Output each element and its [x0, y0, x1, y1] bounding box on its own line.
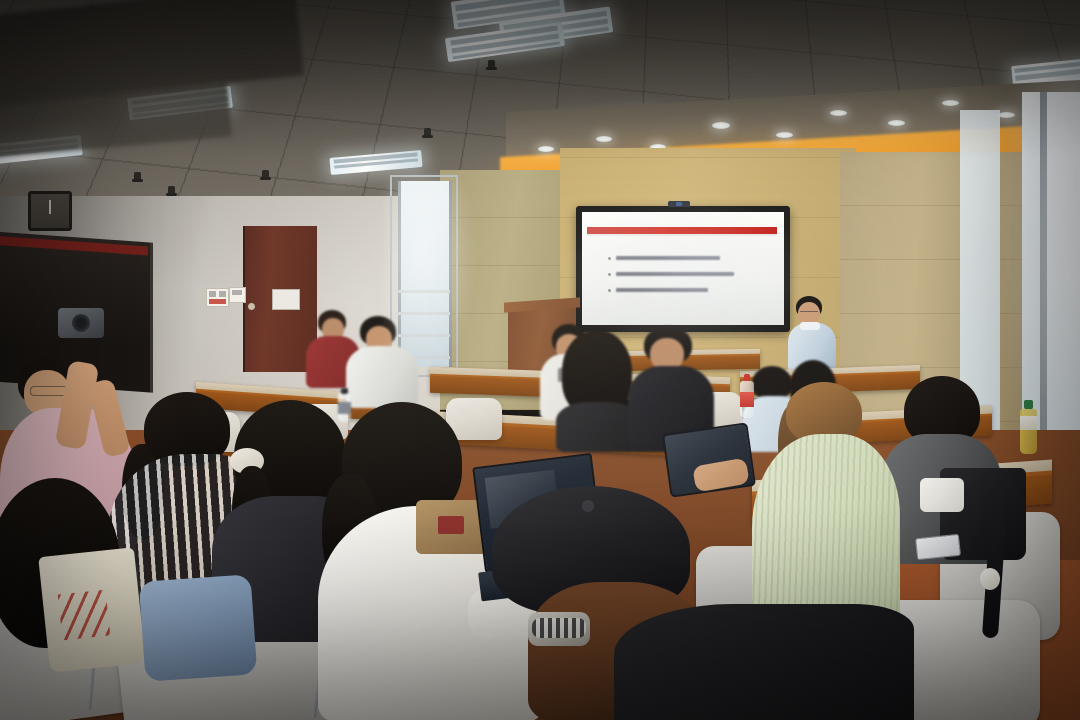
smartphone[interactable]	[915, 534, 961, 560]
door-sign	[272, 289, 300, 310]
wall-sign	[206, 288, 229, 307]
camera-lens-icon	[72, 314, 90, 332]
downlight-icon	[942, 100, 959, 106]
downlight-icon	[712, 122, 730, 129]
downlight-icon	[596, 136, 612, 142]
cap-button-icon	[582, 500, 594, 512]
attendee-green-shirt	[752, 382, 902, 638]
screen-light-bloom	[560, 196, 810, 346]
door-handle[interactable]	[248, 303, 255, 310]
bag-logo	[438, 516, 464, 534]
water-bottle	[1020, 400, 1037, 454]
torso	[614, 604, 914, 720]
hair-clip-studs	[532, 618, 586, 638]
tissue-pack	[920, 478, 964, 512]
bag-charm	[980, 568, 1000, 590]
lecture-hall-photo	[0, 0, 1080, 720]
downlight-icon	[830, 110, 847, 116]
downlight-icon	[538, 146, 554, 152]
downlight-icon	[888, 120, 905, 126]
water-bottle	[740, 374, 754, 418]
attendee-foreground-right	[614, 604, 914, 720]
tote-bag-print	[58, 590, 111, 641]
denim-jacket	[139, 574, 258, 682]
downlight-icon	[776, 132, 793, 138]
glasses-icon	[30, 386, 68, 396]
wall-clock	[28, 191, 72, 231]
window-light-bloom	[386, 176, 476, 376]
wall-sign	[229, 287, 246, 303]
